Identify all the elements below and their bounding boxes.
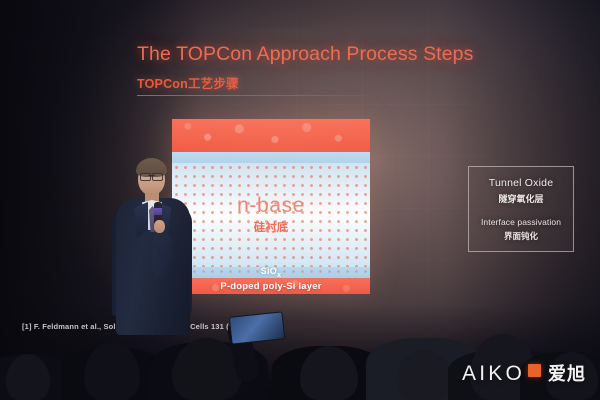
tunnel-oxide-callout: Tunnel Oxide 隧穿氧化层 Interface passivation… [468, 166, 574, 252]
callout-title-en: Tunnel Oxide [489, 177, 553, 189]
callout-detail-en: Interface passivation [481, 217, 561, 227]
sio-label: SiOx [261, 266, 282, 279]
topcon-layer-stack-diagram: n-base 硅衬底 SiOx P-doped poly-Si layer [172, 119, 370, 294]
layer-poly-si: P-doped poly-Si layer [172, 278, 370, 294]
n-base-labels: n-base 硅衬底 [172, 195, 370, 235]
aiko-logo: AIKO 爱旭 [462, 363, 586, 384]
callout-title-cn: 隧穿氧化层 [498, 192, 543, 205]
speaker-hand [154, 220, 165, 233]
layer-n-base: n-base 硅衬底 [172, 163, 370, 267]
smartphone-icon [229, 311, 286, 344]
sio-label-text: SiO [261, 266, 277, 276]
layer-sio-top [172, 152, 370, 163]
n-base-label-cn: 硅衬底 [172, 219, 370, 235]
slide-subtitle: TOPCon工艺步骤 [137, 73, 239, 92]
aiko-square-icon [528, 364, 541, 377]
audience-silhouettes [0, 308, 600, 400]
speaker-forearm [152, 232, 172, 278]
poly-si-label: P-doped poly-Si layer [220, 281, 321, 292]
glasses-icon [140, 173, 163, 179]
microphone-band [154, 208, 162, 215]
layer-top-emitter [172, 119, 370, 152]
n-base-label-en: n-base [172, 195, 370, 217]
aiko-chinese-name: 爱旭 [548, 365, 586, 383]
presentation-photo: The TOPCon Approach Process Steps TOPCon… [0, 0, 600, 400]
slide-title-divider [137, 95, 372, 96]
slide-title: The TOPCon Approach Process Steps [137, 43, 473, 66]
glasses-bridge [148, 175, 155, 176]
callout-detail-cn: 界面钝化 [504, 230, 538, 242]
aiko-wordmark: AIKO [462, 363, 525, 384]
layer-sio-bottom: SiOx [172, 267, 370, 278]
